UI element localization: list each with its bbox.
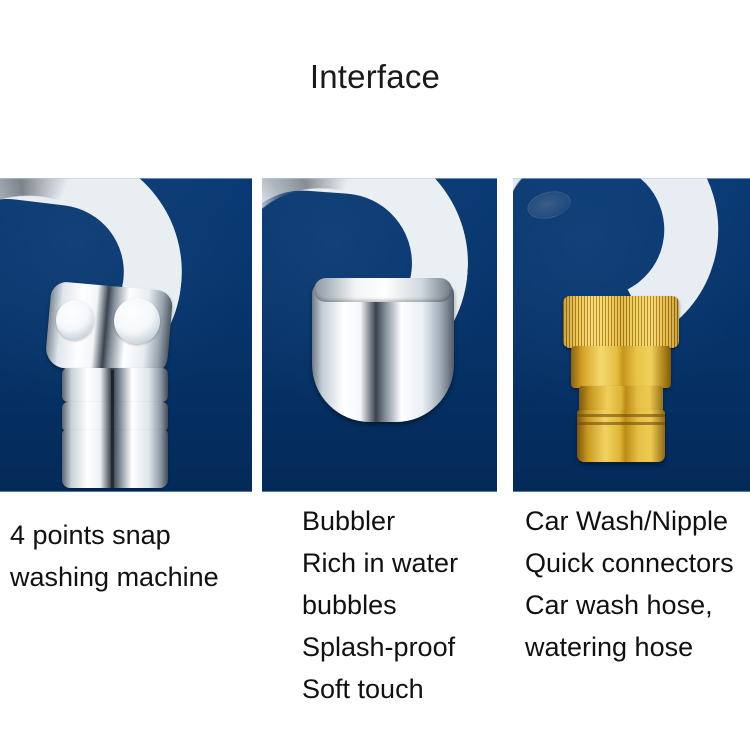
product-image-strip — [0, 178, 750, 492]
caption-line: 4 points snap — [10, 514, 260, 556]
connector-seam-line — [111, 370, 114, 488]
connector-band-1 — [62, 368, 168, 402]
caption-line: Car wash hose, — [525, 584, 750, 626]
caption-line: Splash-proof — [302, 626, 517, 668]
brass-groove-2 — [577, 422, 665, 425]
product-infographic: Interface — [0, 0, 750, 750]
caption-line: Rich in water — [302, 542, 517, 584]
brass-body-upper — [571, 346, 671, 388]
product-image-panel-3 — [513, 178, 750, 492]
caption-line: Car Wash/Nipple — [525, 500, 750, 542]
faucet-four-point-snap-image — [0, 178, 252, 492]
caption-row: 4 points snap washing machine Bubbler Ri… — [0, 492, 750, 750]
faucet-brass-nipple-image — [513, 178, 750, 492]
caption-line: Bubbler — [302, 500, 517, 542]
caption-line: watering hose — [525, 626, 750, 668]
brass-body-lower — [577, 410, 665, 462]
product-image-panel-1 — [0, 178, 252, 492]
bubbler-cap — [312, 282, 454, 422]
brass-groove-1 — [577, 414, 665, 417]
bubbler-cap-rim — [314, 278, 452, 302]
caption-line: bubbles — [302, 584, 517, 626]
caption-line: Soft touch — [302, 668, 517, 710]
faucet-bubbler-image — [262, 178, 497, 492]
caption-line: Quick connectors — [525, 542, 750, 584]
caption-column-1: 4 points snap washing machine — [10, 492, 260, 598]
brass-body-middle — [579, 386, 663, 412]
caption-column-2: Bubbler Rich in water bubbles Splash-pro… — [302, 492, 517, 710]
brass-knurled-nut — [563, 296, 679, 348]
page-title: Interface — [0, 57, 750, 97]
connector-band-3 — [62, 430, 168, 488]
connector-band-2 — [62, 402, 168, 432]
caption-line: washing machine — [10, 556, 260, 598]
product-image-panel-2 — [262, 178, 497, 492]
caption-column-3: Car Wash/Nipple Quick connectors Car was… — [525, 492, 750, 668]
